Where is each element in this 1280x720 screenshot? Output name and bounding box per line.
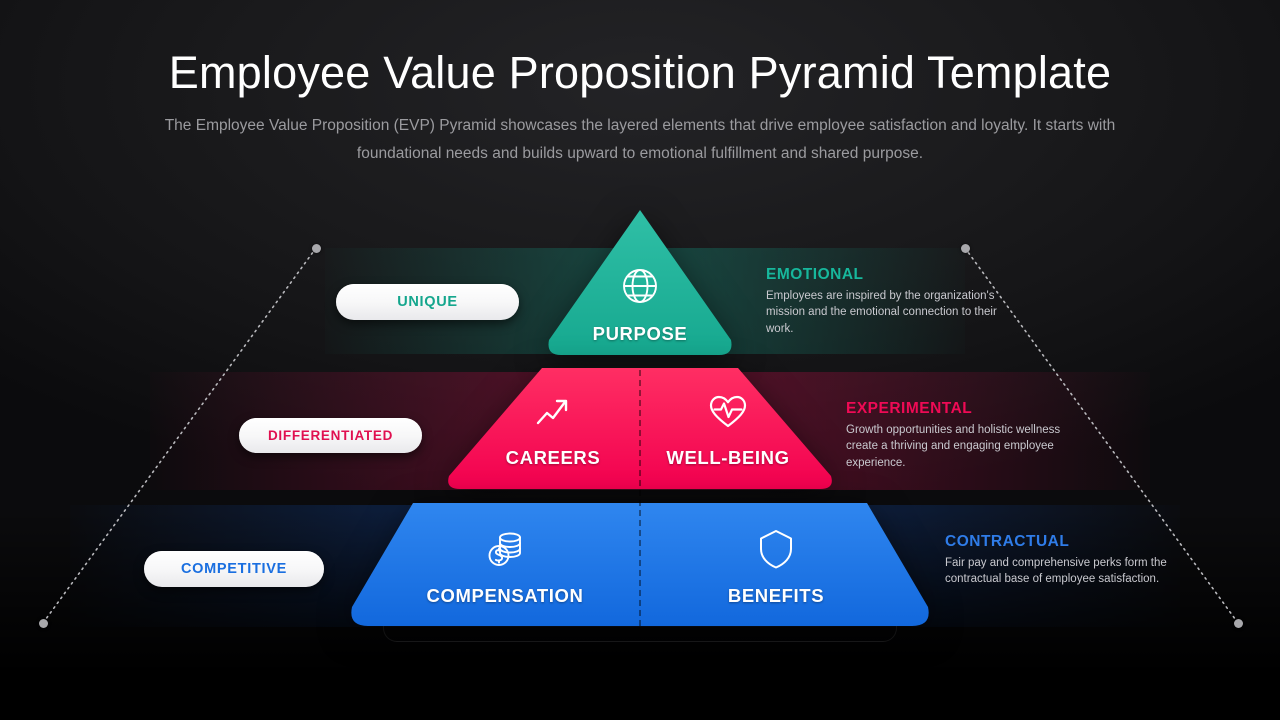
pill-differentiated[interactable]: DIFFERENTIATED	[239, 418, 422, 453]
pill-unique[interactable]: UNIQUE	[336, 284, 519, 320]
description-experimental: EXPERIMENTAL Growth opportunities and ho…	[846, 400, 1061, 471]
trending-up-arrow-icon	[533, 392, 573, 437]
slide-canvas: Employee Value Proposition Pyramid Templ…	[0, 0, 1280, 720]
guide-dot-right-bottom	[1234, 619, 1243, 628]
pyramid-cell-compensation[interactable]: COMPENSATION	[430, 528, 580, 607]
pill-label: UNIQUE	[397, 294, 458, 310]
description-heading: CONTRACTUAL	[945, 533, 1170, 551]
pyramid-cell-label: BENEFITS	[728, 585, 824, 607]
pyramid-cell-label: CAREERS	[506, 447, 601, 469]
description-body: Fair pay and comprehensive perks form th…	[945, 555, 1170, 588]
description-heading: EMOTIONAL	[766, 266, 1016, 284]
shield-icon	[757, 528, 795, 575]
description-body: Employees are inspired by the organizati…	[766, 288, 1016, 337]
page-title: Employee Value Proposition Pyramid Templ…	[0, 48, 1280, 98]
coins-dollar-icon	[484, 528, 526, 575]
description-emotional: EMOTIONAL Employees are inspired by the …	[766, 266, 1016, 337]
description-contractual: CONTRACTUAL Fair pay and comprehensive p…	[945, 533, 1170, 588]
pyramid-cell-label: PURPOSE	[593, 323, 688, 345]
guide-dot-left-bottom	[39, 619, 48, 628]
heart-pulse-icon	[708, 392, 748, 437]
description-body: Growth opportunities and holistic wellne…	[846, 422, 1061, 471]
page-subtitle: The Employee Value Proposition (EVP) Pyr…	[125, 112, 1155, 168]
pill-competitive[interactable]: COMPETITIVE	[144, 551, 324, 587]
pyramid-cell-label: COMPENSATION	[427, 585, 584, 607]
guide-dot-left-top	[312, 244, 321, 253]
globe-icon	[618, 264, 662, 313]
pyramid-cell-label: WELL-BEING	[666, 447, 789, 469]
guide-dot-right-top	[961, 244, 970, 253]
pyramid-cell-careers[interactable]: CAREERS	[478, 392, 628, 469]
pyramid-cell-benefits[interactable]: BENEFITS	[701, 528, 851, 607]
pill-label: COMPETITIVE	[181, 561, 287, 577]
pill-label: DIFFERENTIATED	[268, 428, 393, 443]
description-heading: EXPERIMENTAL	[846, 400, 1061, 418]
pyramid-cell-wellbeing[interactable]: WELL-BEING	[653, 392, 803, 469]
pyramid-center-divider	[639, 370, 641, 626]
pyramid-cell-purpose[interactable]: PURPOSE	[565, 264, 715, 345]
header: Employee Value Proposition Pyramid Templ…	[0, 0, 1280, 168]
